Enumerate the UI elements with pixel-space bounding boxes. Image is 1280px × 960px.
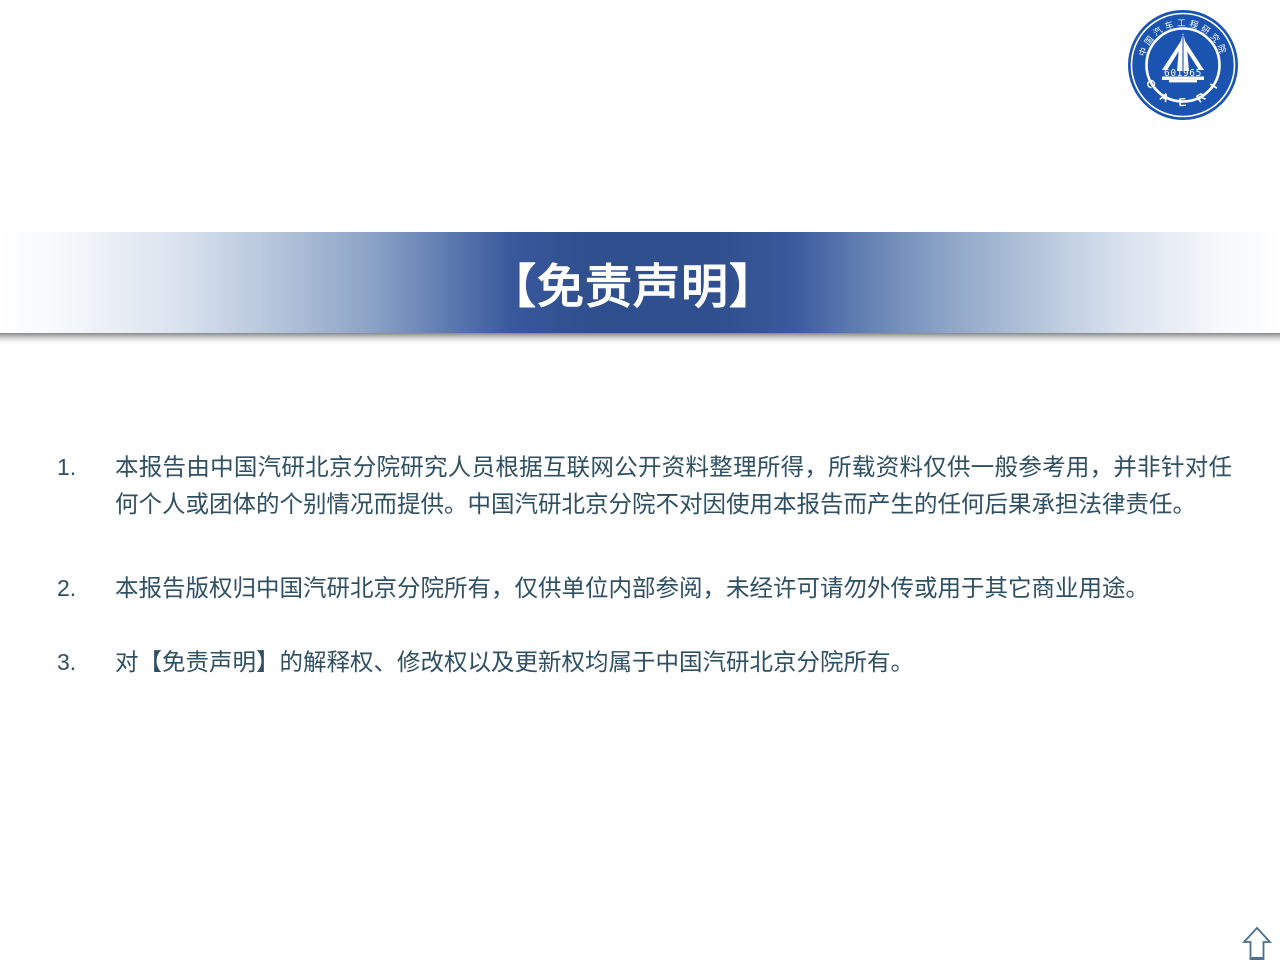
page-title: 【免责声明】 <box>0 232 1280 333</box>
disclaimer-clause: 3. 对【免责声明】的解释权、修改权以及更新权均属于中国汽研北京分院所有。 <box>57 644 1232 681</box>
clause-number: 1. <box>57 449 115 486</box>
title-banner-shadow <box>0 333 1280 346</box>
disclaimer-clause: 1. 本报告由中国汽研北京分院研究人员根据互联网公开资料整理所得，所载资料仅供一… <box>57 449 1232 523</box>
arrow-up-icon[interactable] <box>1242 926 1272 960</box>
caeri-logo-icon: 601965 中国汽车工程研究院 C A E R I <box>1126 8 1240 122</box>
caeri-logo: 601965 中国汽车工程研究院 C A E R I <box>1126 8 1240 122</box>
clause-number: 2. <box>57 570 115 607</box>
logo-numerals: 601965 <box>1164 68 1202 79</box>
slide-root: 601965 中国汽车工程研究院 C A E R I 【免责声明】 1. 本报告… <box>0 0 1280 960</box>
clause-text: 本报告由中国汽研北京分院研究人员根据互联网公开资料整理所得，所载资料仅供一般参考… <box>115 449 1232 523</box>
clause-number: 3. <box>57 644 115 681</box>
back-to-top-button[interactable] <box>1242 926 1272 960</box>
clause-text: 对【免责声明】的解释权、修改权以及更新权均属于中国汽研北京分院所有。 <box>115 644 1232 681</box>
disclaimer-body: 1. 本报告由中国汽研北京分院研究人员根据互联网公开资料整理所得，所载资料仅供一… <box>57 449 1232 681</box>
clause-text: 本报告版权归中国汽研北京分院所有，仅供单位内部参阅，未经许可请勿外传或用于其它商… <box>115 570 1232 607</box>
disclaimer-clause: 2. 本报告版权归中国汽研北京分院所有，仅供单位内部参阅，未经许可请勿外传或用于… <box>57 570 1232 607</box>
